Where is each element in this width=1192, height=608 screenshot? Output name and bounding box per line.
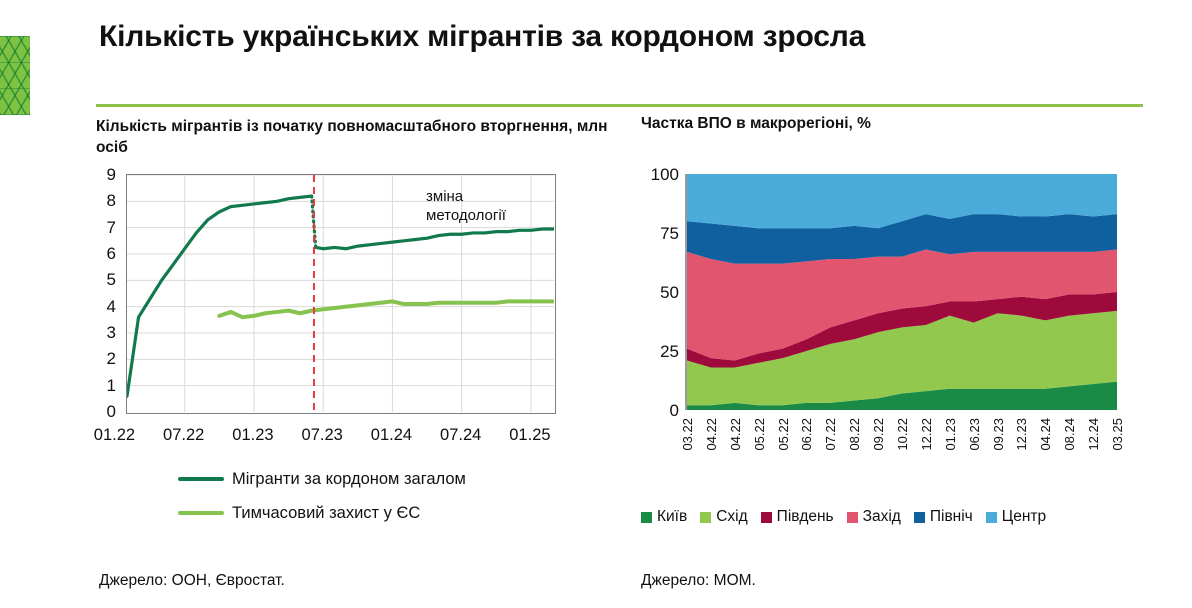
left-chart-subtitle: Кількість мігрантів із початку повномасш… [96, 117, 616, 158]
area-chart-x-tick: 05.22 [776, 418, 791, 451]
line-chart-y-tick: 4 [94, 298, 116, 315]
area-chart-x-tick: 04.22 [704, 418, 719, 451]
left-source: Джерело: ООН, Євростат. [99, 572, 285, 590]
line-legend-swatch [178, 477, 224, 481]
area-chart-x-tick: 12.22 [919, 418, 934, 451]
area-chart-x-tick: 10.22 [895, 418, 910, 451]
area-chart-y-tick: 50 [641, 284, 679, 301]
area-legend-item[interactable]: Північ [914, 508, 973, 526]
area-chart-x-tick: 01.23 [943, 418, 958, 451]
line-chart-y-tick: 0 [94, 403, 116, 420]
area-chart-legend: КиївСхідПівденьЗахідПівнічЦентр [641, 508, 1141, 526]
left-panel: Кількість мігрантів із початку повномасш… [96, 104, 616, 158]
right-source: Джерело: МОМ. [641, 572, 756, 590]
line-legend-item[interactable]: Мігранти за кордоном загалом [96, 462, 566, 496]
area-chart-x-tick: 07.22 [823, 418, 838, 451]
area-legend-label: Північ [930, 508, 973, 526]
area-legend-item[interactable]: Південь [761, 508, 834, 526]
area-chart-plot-area [687, 174, 1117, 410]
area-legend-swatch [700, 512, 711, 523]
area-legend-swatch [986, 512, 997, 523]
area-legend-swatch [914, 512, 925, 523]
area-chart-x-tick: 06.22 [799, 418, 814, 451]
page-title: Кількість українських мігрантів за кордо… [99, 20, 1149, 54]
line-chart-y-tick: 6 [94, 245, 116, 262]
area-chart-x-tick: 12.23 [1014, 418, 1029, 451]
line-chart-x-tick: 07.22 [163, 426, 204, 445]
area-legend-item[interactable]: Київ [641, 508, 687, 526]
line-chart-y-tick: 9 [94, 166, 116, 183]
idp-share-area-chart: 0255075100 03.2204.2204.2205.2205.2206.2… [641, 168, 1131, 418]
area-chart-x-tick: 03.22 [680, 418, 695, 451]
line-chart-y-tick: 2 [94, 350, 116, 367]
line-chart-y-tick: 3 [94, 324, 116, 341]
area-chart-x-tick: 09.22 [871, 418, 886, 451]
line-chart-y-tick: 5 [94, 271, 116, 288]
line-chart-x-tick: 01.25 [509, 426, 550, 445]
right-chart-subtitle: Частка ВПО в макрорегіоні, % [641, 114, 1149, 135]
area-chart-x-tick: 03.25 [1110, 418, 1125, 451]
area-chart-x-tick: 04.22 [728, 418, 743, 451]
area-legend-item[interactable]: Центр [986, 508, 1046, 526]
line-chart-x-tick: 01.23 [232, 426, 273, 445]
area-chart-svg [687, 174, 1117, 410]
line-chart-x-tick: 01.24 [371, 426, 412, 445]
area-legend-item[interactable]: Захід [847, 508, 901, 526]
area-chart-y-tick: 0 [641, 402, 679, 419]
line-legend-label: Тимчасовий захист у ЄС [232, 504, 420, 523]
area-chart-x-tick: 08.24 [1062, 418, 1077, 451]
right-panel: Частка ВПО в макрорегіоні, % [641, 104, 1149, 135]
area-chart-y-tick: 75 [641, 225, 679, 242]
area-legend-item[interactable]: Схід [700, 508, 747, 526]
area-chart-x-tick: 04.24 [1038, 418, 1053, 451]
line-chart-x-tick: 07.24 [440, 426, 481, 445]
area-chart-x-tick: 05.22 [752, 418, 767, 451]
area-legend-label: Київ [657, 508, 687, 526]
line-legend-item[interactable]: Тимчасовий захист у ЄС [96, 496, 566, 530]
area-legend-swatch [641, 512, 652, 523]
area-chart-x-tick: 08.22 [847, 418, 862, 451]
area-chart-x-tick: 09.23 [991, 418, 1006, 451]
area-legend-label: Південь [777, 508, 834, 526]
line-chart-y-tick: 8 [94, 192, 116, 209]
line-chart-y-tick: 1 [94, 377, 116, 394]
line-chart-x-tick: 01.22 [94, 426, 135, 445]
area-legend-label: Центр [1002, 508, 1046, 526]
area-chart-y-tick: 100 [641, 166, 679, 183]
area-legend-swatch [761, 512, 772, 523]
line-legend-label: Мігранти за кордоном загалом [232, 470, 466, 489]
decorative-green-block [0, 36, 30, 115]
line-chart-legend: Мігранти за кордоном загаломТимчасовий з… [96, 462, 566, 530]
area-chart-x-tick: 12.24 [1086, 418, 1101, 451]
area-chart-x-tick: 06.23 [967, 418, 982, 451]
line-legend-swatch [178, 511, 224, 515]
area-legend-label: Захід [863, 508, 901, 526]
area-legend-label: Схід [716, 508, 747, 526]
methodology-change-annotation: зміна методології [426, 188, 506, 226]
migrants-line-chart: 0123456789 01.2207.2201.2307.2301.2407.2… [96, 168, 566, 418]
line-chart-y-tick: 7 [94, 219, 116, 236]
area-chart-y-tick: 25 [641, 343, 679, 360]
line-chart-x-tick: 07.23 [302, 426, 343, 445]
area-legend-swatch [847, 512, 858, 523]
